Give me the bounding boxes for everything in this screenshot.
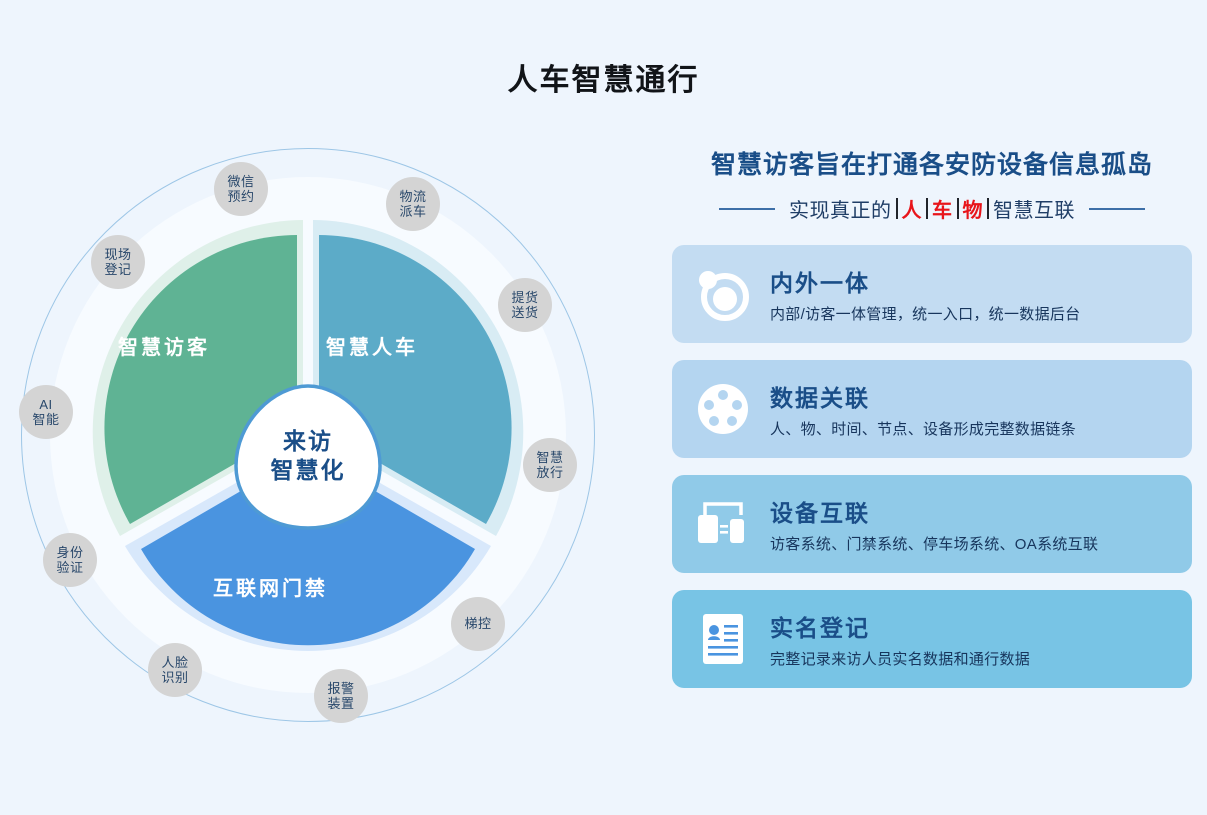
segment-label-2: 智慧人车 [326,331,418,360]
center-line-2: 智慧化 [271,456,346,485]
badge-elevator-control[interactable]: 梯控 [451,597,505,651]
subtitle-row: 实现真正的 人 车 物 智慧互联 [672,194,1192,223]
card-title: 设备互联 [770,494,1098,528]
subtitle-hot-person: 人 [902,194,923,223]
badge-line-2: 派车 [399,204,426,219]
card-title: 数据关联 [770,379,1076,413]
badge-line-1: 物流 [399,189,426,204]
donut-diagram: 智慧访客 智慧人车 互联网门禁 来访 智慧化 微信 预约 现场 登记 AI 智能… [8,135,608,735]
badge-line-2: 放行 [536,465,563,480]
separator-bar-3 [957,198,959,219]
subtitle-hot-vehicle: 车 [932,194,953,223]
center-line-1: 来访 [283,427,333,456]
headline: 智慧访客旨在打通各安防设备信息孤岛 [672,150,1192,180]
badge-line-2: 智能 [32,412,59,427]
badge-line-2: 预约 [227,189,254,204]
feature-card-device-interconnection[interactable]: 设备互联 访客系统、门禁系统、停车场系统、OA系统互联 [672,475,1192,573]
separator-bar-4 [987,198,989,219]
badge-face-recognition[interactable]: 人脸 识别 [148,643,202,697]
badge-line-1: 报警 [327,681,354,696]
segment-label-1: 智慧访客 [118,331,210,360]
card-body: 设备互联 访客系统、门禁系统、停车场系统、OA系统互联 [770,494,1098,554]
card-description: 人、物、时间、节点、设备形成完整数据链条 [770,418,1076,439]
badge-line-2: 识别 [161,670,188,685]
badge-line-2: 验证 [56,560,83,575]
badge-identity-verification[interactable]: 身份 验证 [43,533,97,587]
card-title: 内外一体 [770,264,1080,298]
separator-bar-1 [896,198,898,219]
badge-alarm-device[interactable]: 报警 装置 [314,669,368,723]
badge-line-1: 现场 [104,247,131,262]
badge-line-1: 提货 [511,290,538,305]
card-description: 访客系统、门禁系统、停车场系统、OA系统互联 [770,533,1098,554]
badge-line-2: 登记 [104,262,131,277]
card-title: 实名登记 [770,609,1030,643]
badge-line-1: 微信 [227,174,254,189]
feature-card-internal-external[interactable]: 内外一体 内部/访客一体管理，统一入口，统一数据后台 [672,245,1192,343]
segment-label-3: 互联网门禁 [213,572,328,601]
badge-onsite-registration[interactable]: 现场 登记 [91,235,145,289]
feature-card-list: 内外一体 内部/访客一体管理，统一入口，统一数据后台 [672,245,1192,688]
rule-left [719,208,775,210]
subtitle-prefix: 实现真正的 [789,194,892,223]
card-body: 内外一体 内部/访客一体管理，统一入口，统一数据后台 [770,264,1080,324]
infographic-page: 人车智慧通行 智慧访客 智慧人车 互联网门禁 来访 智慧化 [0,0,1207,815]
feature-card-real-name-registration[interactable]: 实名登记 完整记录来访人员实名数据和通行数据 [672,590,1192,688]
badge-line-2: 送货 [511,305,538,320]
ring-circle-icon [692,263,754,325]
subtitle-suffix: 智慧互联 [993,194,1075,223]
rule-right [1089,208,1145,210]
center-label: 来访 智慧化 [230,378,386,534]
badge-line-1: 身份 [56,545,83,560]
badge-pickup-delivery[interactable]: 提货 送货 [498,278,552,332]
badge-wechat-booking[interactable]: 微信 预约 [214,162,268,216]
page-title: 人车智慧通行 [0,55,1207,99]
badge-logistics-dispatch[interactable]: 物流 派车 [386,177,440,231]
badge-line-2: 装置 [327,696,354,711]
badge-line-1: AI [39,397,52,412]
center-medallion: 来访 智慧化 [230,378,386,534]
card-description: 完整记录来访人员实名数据和通行数据 [770,648,1030,669]
content-column: 智慧访客旨在打通各安防设备信息孤岛 实现真正的 人 车 物 智慧互联 [672,150,1192,688]
separator-bar-2 [926,198,928,219]
badge-line-1: 人脸 [161,655,188,670]
feature-card-data-association[interactable]: 数据关联 人、物、时间、节点、设备形成完整数据链条 [672,360,1192,458]
badge-smart-release[interactable]: 智慧 放行 [523,438,577,492]
card-body: 数据关联 人、物、时间、节点、设备形成完整数据链条 [770,379,1076,439]
subtitle: 实现真正的 人 车 物 智慧互联 [789,194,1075,223]
data-nodes-icon [692,378,754,440]
badge-line-1: 智慧 [536,450,563,465]
card-description: 内部/访客一体管理，统一入口，统一数据后台 [770,303,1080,324]
card-body: 实名登记 完整记录来访人员实名数据和通行数据 [770,609,1030,669]
badge-ai-intelligence[interactable]: AI 智能 [19,385,73,439]
devices-link-icon [692,493,754,555]
badge-line-1: 梯控 [464,616,491,631]
subtitle-hot-goods: 物 [963,194,984,223]
id-card-icon [692,608,754,670]
